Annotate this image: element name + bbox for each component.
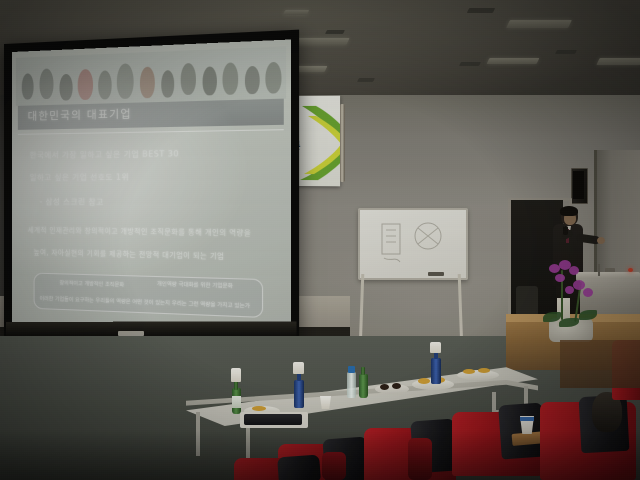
ceiling-vent [325,30,345,34]
dark-tray [244,414,302,425]
ceiling-vent [459,62,481,66]
slide-line: - 삼성 스크린 참고 [40,196,104,208]
orchid-flower [565,286,574,294]
slide-line: 높여, 자아실현의 기회를 제공하는 전망적 대기업이 되는 기업 [34,246,225,260]
ceiling-light-fixture [283,10,309,15]
presentation-slide: 대한민국의 대표기업 한국에서 가장 일하고 싶은 기업 BEST 30 일하고… [12,39,291,336]
whiteboard-sketch [360,210,466,278]
whiteboard [358,208,468,280]
cup-rim-band [520,417,534,421]
orchid-plant [535,256,603,342]
bottle-neck [361,367,365,375]
ceiling-light-fixture [487,58,540,64]
green-bottle [359,374,368,398]
projection-screen: 대한민국의 대표기업 한국에서 가장 일하고 싶은 기업 BEST 30 일하고… [12,39,291,336]
banner-chevron-graphic [298,102,340,183]
snack-item [478,368,490,373]
whiteboard-marker-tray [428,272,444,276]
blue-bottle [294,380,304,408]
presenter-hand [597,237,605,244]
slide-header-image [16,46,286,106]
screen-bottom-bar [6,321,296,336]
speaker-grille [573,171,584,199]
ceiling-vent [555,50,577,54]
ceiling-vent [467,8,495,13]
slide-line: 한국에서 가장 일하고 싶은 기업 BEST 30 [30,148,179,161]
snack-item [252,406,266,411]
right-wall-panel [560,340,640,388]
snack-item [463,369,475,374]
floor-shadow [0,430,640,480]
cup-stack [293,362,304,374]
wall-speaker-icon [571,168,588,204]
presenter-hair [560,206,578,216]
bottle-cap [348,366,355,373]
snack-item [392,383,401,389]
ceiling-light-fixture [596,58,640,65]
photo-scene: 수회 전략토론 한영공학대 대한민국의 대표기업 [0,0,640,480]
slide-line: 세계적 인재관리와 창의적이고 개방적인 조직문화를 통해 개인의 역량을 [28,224,251,237]
orchid-flower [555,274,565,282]
snack-item [418,378,430,384]
slide-body: 한국에서 가장 일하고 싶은 기업 BEST 30 일하고 싶은 기업 선호도 … [18,134,284,287]
cup-stack [231,368,241,382]
banner-pole [340,104,345,182]
orchid-flower [569,266,579,275]
paper-cup [320,396,331,409]
podium-indicator-light [628,268,633,272]
orchid-flower [573,280,585,290]
blue-bottle [431,358,441,384]
orchid-leaf [579,310,597,320]
cup-stack [430,342,441,353]
microphone-icon [563,226,568,235]
ceiling-light-fixture [506,20,572,28]
bottle-label [232,396,241,408]
snack-item [380,384,389,390]
slide-line: 일하고 싶은 기업 선호도 1위 [30,171,129,183]
orchid-flower [583,288,593,297]
clear-water-bottle [347,372,356,398]
